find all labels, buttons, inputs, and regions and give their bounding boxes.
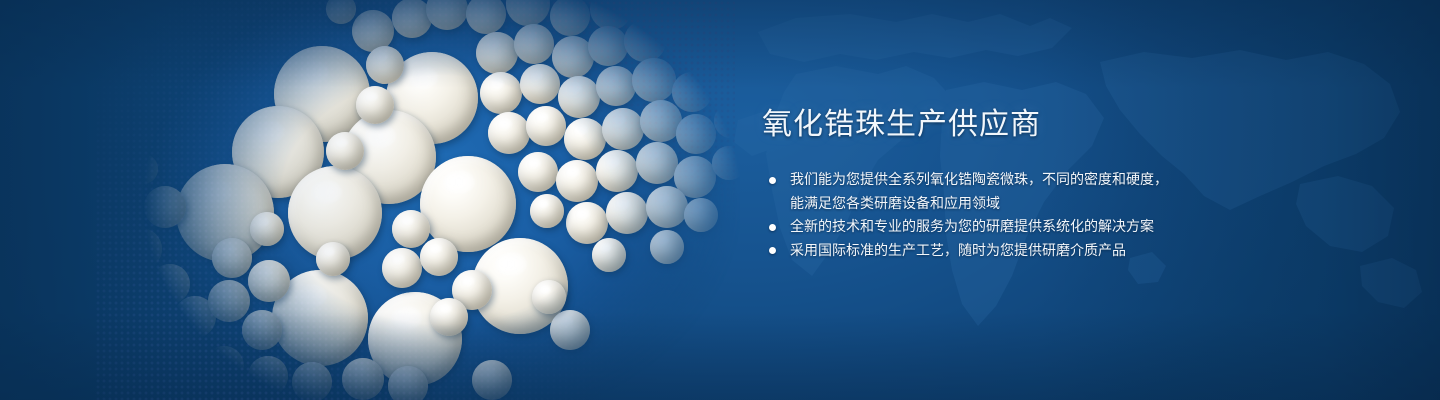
benefit-item: 采用国际标准的生产工艺，随时为您提供研磨介质产品 [762,239,1232,263]
benefit-text-line: 全新的技术和专业的服务为您的研磨提供系统化的解决方案 [790,215,1232,239]
hero-banner: 氧化锆珠生产供应商 我们能为您提供全系列氧化锆陶瓷微珠，不同的密度和硬度， 能满… [0,0,1440,400]
bullet-dot-icon [769,247,776,254]
benefit-text-line: 采用国际标准的生产工艺，随时为您提供研磨介质产品 [790,239,1232,263]
benefit-item: 全新的技术和专业的服务为您的研磨提供系统化的解决方案 [762,215,1232,239]
benefit-text-line: 能满足您各类研磨设备和应用领域 [790,192,1232,216]
benefit-list: 我们能为您提供全系列氧化锆陶瓷微珠，不同的密度和硬度， 能满足您各类研磨设备和应… [762,168,1232,262]
bullet-dot-icon [769,177,776,184]
benefit-item: 我们能为您提供全系列氧化锆陶瓷微珠，不同的密度和硬度， 能满足您各类研磨设备和应… [762,168,1232,215]
benefit-text-line: 我们能为您提供全系列氧化锆陶瓷微珠，不同的密度和硬度， [790,168,1232,192]
banner-headline: 氧化锆珠生产供应商 [762,104,1232,146]
bullet-dot-icon [769,224,776,231]
banner-copy: 氧化锆珠生产供应商 我们能为您提供全系列氧化锆陶瓷微珠，不同的密度和硬度， 能满… [762,104,1232,262]
